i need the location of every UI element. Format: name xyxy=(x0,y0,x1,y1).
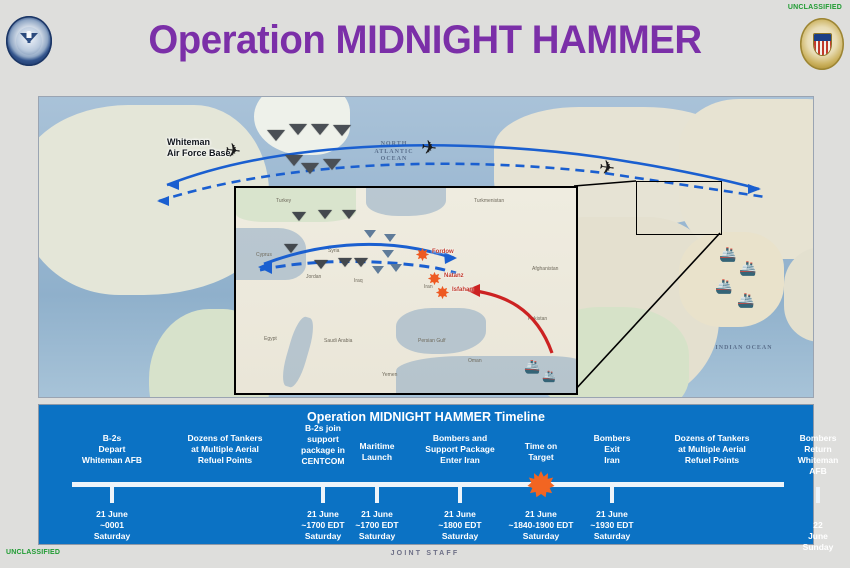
timeline-event-date-line: Saturday xyxy=(355,531,398,542)
b2-bomber-icon xyxy=(267,130,285,141)
timeline-tick-bombers-enter-iran xyxy=(458,487,462,503)
footer-joint-staff: JOINT STAFF xyxy=(0,550,850,557)
timeline-tick-bombers-return xyxy=(816,487,820,503)
operation-timeline: Operation MIDNIGHT HAMMER Timeline B-2sD… xyxy=(38,404,814,545)
timeline-tick-b2s-join-support xyxy=(321,487,325,503)
timeline-event-label-line: Enter Iran xyxy=(425,455,494,466)
timeline-event-date-line: 21 June xyxy=(590,509,633,520)
timeline-event-date-b2s-depart: 21 June~0001Saturday xyxy=(94,509,130,542)
timeline-event-label-line: Time on xyxy=(525,441,557,452)
timeline-tick-maritime-launch xyxy=(375,487,379,503)
timeline-event-date-line: 21 June xyxy=(94,509,130,520)
b2-bomber-icon xyxy=(354,258,368,267)
timeline-strike-marker-time-on-target xyxy=(528,471,555,498)
timeline-event-label-line: Refuel Points xyxy=(188,455,263,466)
timeline-title: Operation MIDNIGHT HAMMER Timeline xyxy=(39,410,813,424)
timeline-event-label-time-on-target: Time onTarget xyxy=(525,441,557,463)
naval-vessel-icon: 🚢 xyxy=(737,293,754,307)
fighter-escort-icon xyxy=(372,266,384,274)
timeline-event-label-line: CENTCOM xyxy=(301,456,345,467)
fighter-escort-icon xyxy=(364,230,376,238)
timeline-event-label-tankers-return: Dozens of Tankersat Multiple AerialRefue… xyxy=(675,433,750,466)
b2-bomber-icon xyxy=(333,125,351,136)
timeline-event-date-line: 21 June xyxy=(355,509,398,520)
b2-bomber-icon xyxy=(284,244,298,253)
timeline-event-label-bombers-exit-iran: BombersExitIran xyxy=(594,433,631,466)
timeline-event-label-line: support xyxy=(301,434,345,445)
timeline-event-date-line: ~1800 EDT xyxy=(438,520,481,531)
timeline-event-date-b2s-join-support: 21 June~1700 EDTSaturday xyxy=(301,509,344,542)
timeline-event-label-line: B-2s xyxy=(82,433,142,444)
timeline-event-label-line: Bombers and xyxy=(425,433,494,444)
timeline-tick-b2s-depart xyxy=(110,487,114,503)
timeline-event-date-line: Saturday xyxy=(438,531,481,542)
timeline-event-date-line: 21 June xyxy=(301,509,344,520)
timeline-event-date-bombers-enter-iran: 21 June~1800 EDTSaturday xyxy=(438,509,481,542)
timeline-event-date-line: Saturday xyxy=(301,531,344,542)
timeline-event-date-bombers-exit-iran: 21 June~1930 EDTSaturday xyxy=(590,509,633,542)
b2-bomber-icon xyxy=(338,258,352,267)
b2-bomber-icon xyxy=(301,163,319,174)
timeline-event-label-line: Exit xyxy=(594,444,631,455)
timeline-event-label-line: at Multiple Aerial xyxy=(675,444,750,455)
classification-top: UNCLASSIFIED xyxy=(788,4,842,11)
timeline-event-label-maritime-launch: MaritimeLaunch xyxy=(360,441,395,463)
timeline-event-label-line: Dozens of Tankers xyxy=(188,433,263,444)
b2-bomber-icon xyxy=(318,210,332,219)
timeline-event-date-line: 21 June xyxy=(438,509,481,520)
timeline-event-label-line: Support Package xyxy=(425,444,494,455)
timeline-event-label-line: Target xyxy=(525,452,557,463)
timeline-event-label-b2s-join-support: B-2s joinsupportpackage inCENTCOM xyxy=(301,423,345,467)
slide: UNCLASSIFIED UNCLASSIFIED JOINT STAFF Op… xyxy=(0,0,850,568)
b2-bomber-icon xyxy=(292,212,306,221)
timeline-event-label-b2s-depart: B-2sDepartWhiteman AFB xyxy=(82,433,142,466)
tanker-aircraft-icon: ✈ xyxy=(224,141,242,162)
timeline-event-date-line: 21 June xyxy=(509,509,574,520)
target-label-isfahan: Isfahan xyxy=(452,287,473,293)
timeline-event-label-bombers-enter-iran: Bombers andSupport PackageEnter Iran xyxy=(425,433,494,466)
fighter-escort-icon xyxy=(390,264,402,272)
b2-bomber-icon xyxy=(314,260,328,269)
timeline-event-label-line: Launch xyxy=(360,452,395,463)
timeline-event-label-line: Maritime xyxy=(360,441,395,452)
naval-vessel-icon: 🚢 xyxy=(715,279,732,293)
timeline-event-label-line: Whiteman AFB xyxy=(798,455,839,477)
naval-vessel-icon: 🚢 xyxy=(739,261,756,275)
naval-vessel-icon: 🚢 xyxy=(524,360,540,373)
inset-maritime-strike-route xyxy=(468,290,552,353)
inset-callout-frame xyxy=(636,181,722,235)
timeline-event-label-line: at Multiple Aerial xyxy=(188,444,263,455)
fighter-escort-icon xyxy=(384,234,396,242)
fighter-escort-icon xyxy=(382,250,394,258)
naval-vessel-icon: 🚢 xyxy=(719,247,736,261)
page-title: Operation MIDNIGHT HAMMER xyxy=(17,18,833,63)
b2-bomber-icon xyxy=(342,210,356,219)
timeline-axis xyxy=(72,482,784,487)
timeline-event-date-bombers-return: 22 JuneSunday xyxy=(803,520,834,553)
timeline-event-label-line: Dozens of Tankers xyxy=(675,433,750,444)
tanker-aircraft-icon: ✈ xyxy=(420,138,438,159)
timeline-event-date-line: Saturday xyxy=(509,531,574,542)
timeline-event-label-line: Iran xyxy=(594,455,631,466)
tanker-aircraft-icon: ✈ xyxy=(598,158,616,179)
timeline-event-date-line: ~1930 EDT xyxy=(590,520,633,531)
timeline-event-date-line: Saturday xyxy=(590,531,633,542)
whiteman-afb-label: Whiteman Air Force Base xyxy=(167,137,231,160)
timeline-event-date-line: 22 June xyxy=(803,520,834,542)
timeline-event-label-line: B-2s join xyxy=(301,423,345,434)
timeline-event-label-line: package in xyxy=(301,445,345,456)
timeline-event-date-line: Sunday xyxy=(803,542,834,553)
timeline-event-date-line: ~0001 xyxy=(94,520,130,531)
b2-bomber-icon xyxy=(323,159,341,170)
timeline-event-date-line: ~1840-1900 EDT xyxy=(509,520,574,531)
timeline-event-date-maritime-launch: 21 June~1700 EDTSaturday xyxy=(355,509,398,542)
timeline-event-label-bombers-return: BombersReturnWhiteman AFB xyxy=(798,433,839,477)
b2-bomber-icon xyxy=(289,124,307,135)
timeline-event-label-line: Return xyxy=(798,444,839,455)
timeline-event-date-line: Saturday xyxy=(94,531,130,542)
timeline-event-label-line: Bombers xyxy=(594,433,631,444)
timeline-event-label-tankers-outbound: Dozens of Tankersat Multiple AerialRefue… xyxy=(188,433,263,466)
operation-map: NORTH ATLANTIC OCEAN INDIAN OCEAN Whitem… xyxy=(38,96,814,398)
target-label-fordow: Fordow xyxy=(432,249,454,255)
timeline-event-label-line: Depart xyxy=(82,444,142,455)
timeline-tick-bombers-exit-iran xyxy=(610,487,614,503)
timeline-event-date-time-on-target: 21 June~1840-1900 EDTSaturday xyxy=(509,509,574,542)
naval-vessel-icon: 🚢 xyxy=(542,372,556,383)
b2-bomber-icon xyxy=(311,124,329,135)
timeline-event-date-line: ~1700 EDT xyxy=(301,520,344,531)
timeline-event-label-line: Bombers xyxy=(798,433,839,444)
inset-map-middle-east: Turkey Turkmenistan Afghanistan Iraq Ira… xyxy=(234,186,578,395)
timeline-event-label-line: Whiteman AFB xyxy=(82,455,142,466)
timeline-event-date-line: ~1700 EDT xyxy=(355,520,398,531)
target-label-natanz: Natanz xyxy=(444,273,464,279)
route-arrow-west-dashed xyxy=(157,196,169,206)
route-arrow-east xyxy=(748,184,761,194)
timeline-event-label-line: Refuel Points xyxy=(675,455,750,466)
